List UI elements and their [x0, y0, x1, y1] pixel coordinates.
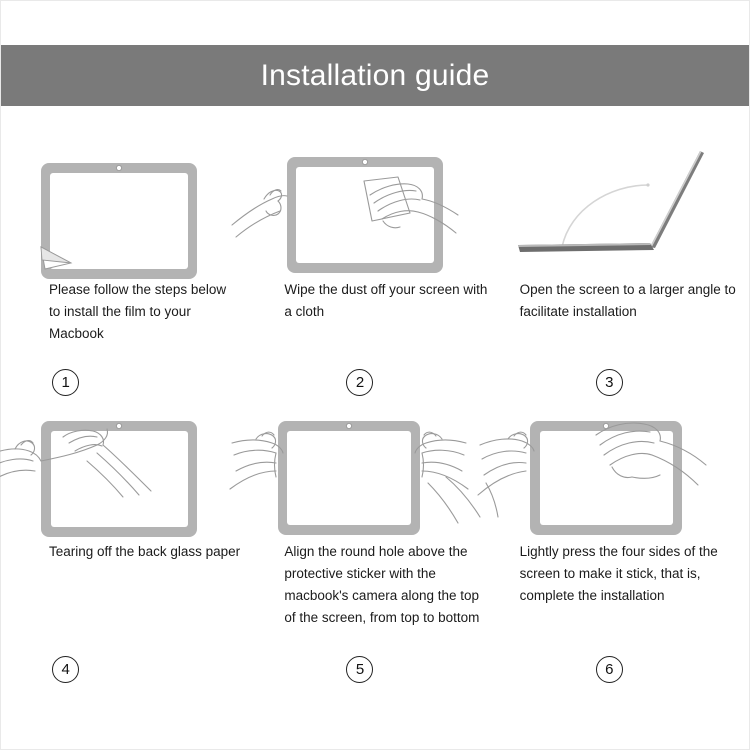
step-caption-2: Wipe the dust off your screen with a clo…: [284, 279, 491, 323]
step-card-6: Lightly press the four sides of the scre…: [500, 391, 749, 749]
step-card-2: Wipe the dust off your screen with a clo…: [250, 129, 499, 391]
page-title: Installation guide: [261, 61, 490, 91]
step-illustration-2: [250, 129, 499, 265]
step-caption-6: Lightly press the four sides of the scre…: [520, 541, 743, 607]
installation-guide-page: Installation guide Please follow the ste…: [0, 0, 750, 750]
step-illustration-5: [250, 391, 499, 527]
steps-grid: Please follow the steps below to install…: [1, 129, 749, 749]
step-badge-wrap-4: 4: [1, 656, 250, 683]
step-caption-1: Please follow the steps below to install…: [49, 279, 240, 345]
step-illustration-4: [1, 391, 250, 527]
step-card-3: Open the screen to a larger angle to fac…: [500, 129, 749, 391]
step-number-badge-6: 6: [596, 656, 623, 683]
step-illustration-6: [500, 391, 749, 527]
step-card-4: Tearing off the back glass paper 4: [1, 391, 250, 749]
step-illustration-1: [1, 129, 250, 265]
step-badge-wrap-6: 6: [500, 656, 749, 683]
step-card-1: Please follow the steps below to install…: [1, 129, 250, 391]
step-illustration-3: [500, 129, 749, 265]
step-number-badge-4: 4: [52, 656, 79, 683]
step-caption-5: Align the round hole above the protectiv…: [284, 541, 491, 629]
header-banner: Installation guide: [1, 45, 749, 106]
step-card-5: Align the round hole above the protectiv…: [250, 391, 499, 749]
step-caption-4: Tearing off the back glass paper: [49, 541, 240, 563]
step-badge-wrap-5: 5: [250, 656, 499, 683]
step-caption-3: Open the screen to a larger angle to fac…: [520, 279, 743, 323]
step-number-badge-5: 5: [346, 656, 373, 683]
